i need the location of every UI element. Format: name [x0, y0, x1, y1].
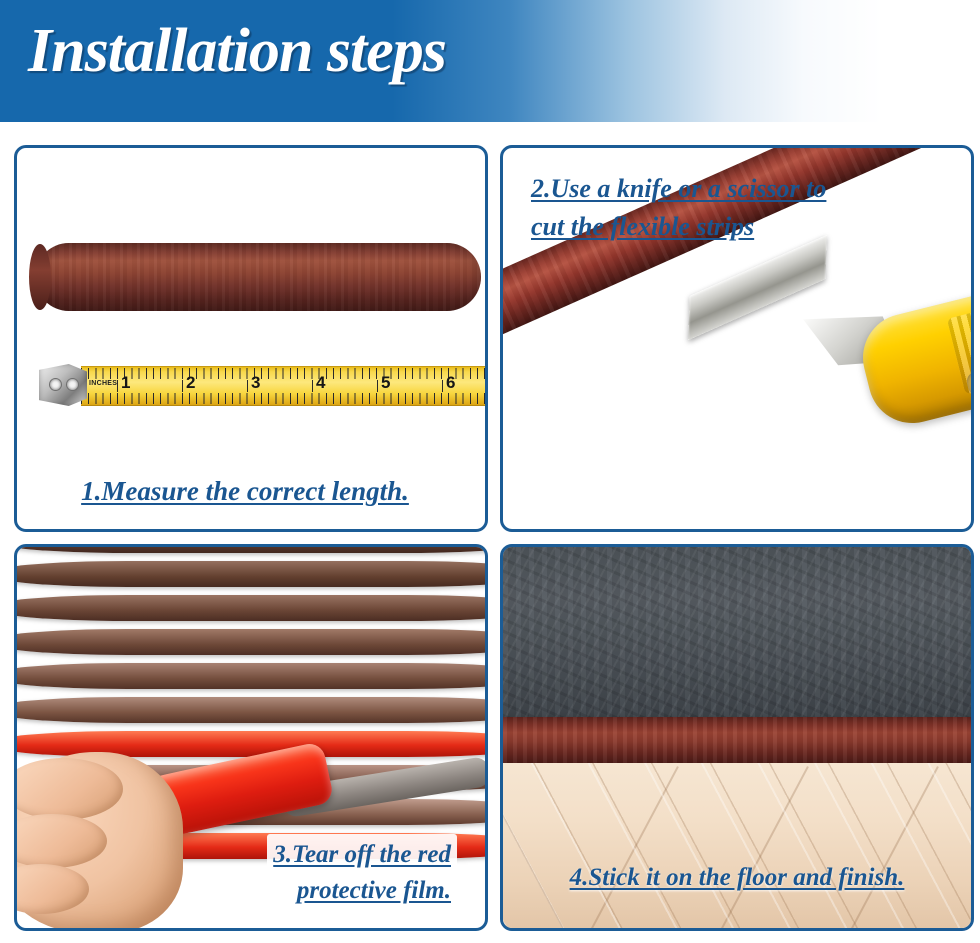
caption-line: cut the flexible strips: [531, 212, 754, 241]
caption-line: 1.Measure the correct length.: [81, 476, 409, 506]
page-title: Installation steps: [28, 16, 446, 87]
tape-number: 3: [251, 373, 260, 393]
step-panel-2: 2.Use a knife or a scissor to cut the fl…: [500, 145, 974, 532]
tape-number: 1: [121, 373, 130, 393]
caption-line: 2.Use a knife or a scissor to: [531, 174, 826, 203]
wall-surface: [503, 547, 971, 717]
tape-number: 5: [381, 373, 390, 393]
installation-steps-infographic: Installation steps INCHES: [0, 0, 980, 943]
step-panel-3: 3.Tear off the red protective film.: [14, 544, 488, 931]
knife-handle: [854, 265, 974, 432]
trim-strip-image: [35, 243, 481, 311]
tape-number: 6: [446, 373, 455, 393]
step-caption-4: 4.Stick it on the floor and finish.: [503, 860, 971, 896]
tape-number: 4: [316, 373, 325, 393]
step-panel-4: 4.Stick it on the floor and finish.: [500, 544, 974, 931]
step-caption-3: 3.Tear off the red protective film.: [267, 834, 457, 913]
wood-floor-surface: [503, 763, 971, 928]
tape-ticks-top: [81, 368, 485, 379]
caption-line: 3.Tear off the red: [273, 841, 451, 868]
hand-image: [14, 752, 183, 931]
knife-grip-ridges: [947, 296, 974, 395]
tape-hook-icon: [39, 364, 87, 406]
tape-major-marks: [81, 380, 485, 392]
caption-line: protective film.: [297, 877, 451, 904]
knife-blade: [688, 235, 827, 340]
tape-number: 2: [186, 373, 195, 393]
tape-blade: INCHES 1 2 3 4 5 6: [81, 366, 485, 406]
installed-baseboard-trim: [503, 717, 971, 763]
steps-grid: INCHES 1 2 3 4 5 6: [14, 145, 966, 931]
step-caption-1: 1.Measure the correct length.: [17, 472, 473, 511]
step-panel-1: INCHES 1 2 3 4 5 6: [14, 145, 488, 532]
tape-measure-image: INCHES 1 2 3 4 5 6: [39, 366, 485, 404]
trim-strip-end-cap: [29, 244, 51, 310]
caption-line: 4.Stick it on the floor and finish.: [570, 864, 905, 891]
header-banner: Installation steps: [0, 0, 980, 122]
step-caption-2: 2.Use a knife or a scissor to cut the fl…: [531, 170, 826, 245]
tape-ticks-bottom: [81, 393, 485, 404]
